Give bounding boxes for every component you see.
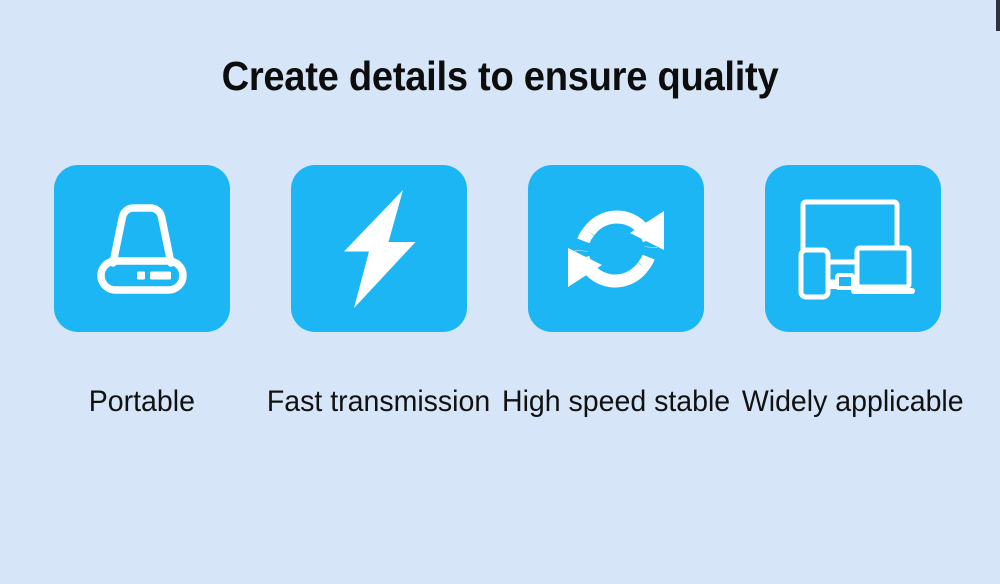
feature-icon-tile [528, 165, 704, 332]
hard-drive-icon [89, 199, 195, 299]
feature-list: Portable Fast transmission [0, 165, 1000, 419]
feature-banner: Create details to ensure quality [0, 0, 1000, 584]
feature-label: Portable [89, 385, 195, 419]
sync-arrows-icon [560, 193, 672, 305]
feature-item-fast-transmission: Fast transmission [291, 165, 467, 419]
feature-icon-tile [765, 165, 941, 332]
feature-label: High speed stable [502, 385, 730, 419]
feature-icon-tile [291, 165, 467, 332]
feature-item-portable: Portable [54, 165, 230, 419]
feature-item-widely-applicable: Widely applicable [765, 165, 941, 419]
edge-artifact [996, 0, 1000, 31]
feature-label: Fast transmission [267, 385, 490, 419]
multi-device-icon [791, 198, 915, 300]
feature-icon-tile [54, 165, 230, 332]
page-title: Create details to ensure quality [35, 50, 965, 102]
feature-label: Widely applicable [742, 385, 964, 419]
lightning-bolt-icon [333, 188, 425, 310]
feature-item-high-speed-stable: High speed stable [528, 165, 704, 419]
